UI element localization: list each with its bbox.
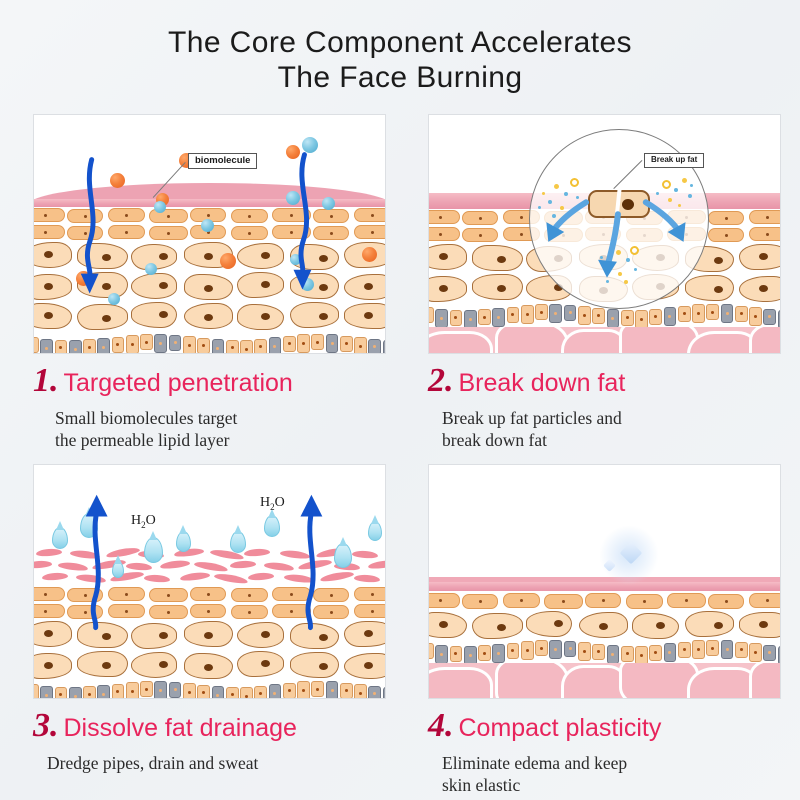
basal-cell bbox=[592, 644, 605, 660]
basal-cell bbox=[197, 685, 210, 699]
skin-flake bbox=[354, 574, 380, 583]
basal-cell bbox=[763, 309, 776, 325]
basal-cell bbox=[649, 645, 662, 661]
step-caption-4: 4. Compact plasticity Eliminate edema an… bbox=[428, 709, 783, 797]
basal-cell bbox=[778, 310, 781, 329]
cell-nucleus bbox=[319, 255, 328, 262]
fat-particle bbox=[564, 192, 568, 196]
corneocyte-cell bbox=[462, 594, 498, 609]
skin-flake bbox=[144, 574, 170, 583]
biomolecule-orange bbox=[220, 253, 236, 269]
cell-nucleus bbox=[159, 632, 168, 639]
fat-particle bbox=[538, 206, 541, 209]
biomolecule-blue bbox=[286, 191, 300, 205]
basal-cell-row bbox=[33, 682, 386, 699]
basal-cell bbox=[692, 304, 705, 323]
spinous-cell bbox=[290, 652, 338, 678]
biomolecule-orange bbox=[76, 271, 91, 286]
fat-cell bbox=[749, 663, 780, 699]
spinous-cell bbox=[184, 274, 233, 300]
cell-nucleus bbox=[159, 282, 168, 289]
spinous-cell bbox=[579, 612, 628, 638]
biomolecule-blue bbox=[302, 137, 318, 153]
skin-flake bbox=[126, 562, 152, 571]
corneocyte-cell bbox=[190, 587, 226, 601]
cell-nucleus bbox=[102, 254, 111, 261]
basal-cell bbox=[154, 681, 167, 699]
fat-cell bbox=[495, 663, 569, 699]
basal-cell bbox=[535, 640, 548, 656]
basal-cell bbox=[607, 645, 620, 664]
water-droplet bbox=[264, 515, 280, 537]
spinous-cell-row bbox=[33, 622, 386, 652]
basal-cell bbox=[435, 309, 448, 328]
skin-flake bbox=[76, 573, 107, 584]
fat-particle bbox=[542, 192, 545, 195]
biomolecule-orange bbox=[362, 247, 377, 262]
fat-particle bbox=[616, 250, 621, 255]
corneocyte-cell bbox=[503, 593, 540, 608]
step-heading-1: 1. Targeted penetration bbox=[33, 364, 388, 398]
cell-nucleus bbox=[261, 631, 270, 638]
fat-particle bbox=[688, 194, 692, 198]
cell-nucleus bbox=[44, 251, 53, 258]
cell-nucleus bbox=[714, 257, 723, 264]
skin-flake bbox=[36, 548, 62, 557]
cell-nucleus bbox=[102, 315, 111, 322]
skin-flake bbox=[160, 559, 191, 570]
fat-cell bbox=[561, 665, 627, 699]
water-droplet bbox=[230, 531, 246, 553]
cell-nucleus bbox=[656, 622, 665, 629]
basal-cell bbox=[521, 641, 534, 660]
basal-cell bbox=[354, 684, 367, 699]
cell-nucleus bbox=[261, 660, 270, 667]
spinous-cell bbox=[33, 242, 72, 268]
basal-cell bbox=[154, 334, 167, 353]
spinous-cell bbox=[131, 652, 177, 678]
basal-cell bbox=[564, 641, 577, 657]
spinous-cell-row bbox=[33, 243, 386, 273]
basal-cell bbox=[578, 306, 591, 325]
basal-cell bbox=[721, 640, 734, 659]
spinous-cell bbox=[526, 611, 572, 637]
basal-cell bbox=[664, 643, 677, 662]
fat-particle bbox=[678, 204, 681, 207]
fat-particle bbox=[674, 188, 678, 192]
cell-nucleus bbox=[204, 664, 213, 671]
skin-flake bbox=[70, 549, 101, 560]
skin-flake bbox=[284, 573, 315, 584]
basal-cell bbox=[706, 304, 719, 320]
cell-nucleus bbox=[102, 633, 111, 640]
spinous-cell bbox=[33, 621, 72, 647]
basal-cell bbox=[428, 643, 434, 659]
fat-particle bbox=[576, 196, 579, 199]
step-heading-4: 4. Compact plasticity bbox=[428, 709, 783, 743]
basal-cell bbox=[297, 681, 310, 699]
cell-nucleus bbox=[204, 285, 213, 292]
cell-nucleus bbox=[44, 662, 53, 669]
cell-nucleus bbox=[44, 312, 53, 319]
basal-cell bbox=[240, 687, 253, 699]
spinous-cell bbox=[33, 274, 72, 300]
basal-cell bbox=[635, 646, 648, 665]
skin-flake bbox=[230, 560, 256, 569]
step-card-1: biomolecule 1. Targeted penetration Smal… bbox=[33, 114, 388, 452]
basal-cell bbox=[69, 687, 82, 699]
basal-cell bbox=[254, 686, 267, 699]
skin-flake bbox=[320, 570, 355, 583]
basal-cell bbox=[97, 338, 110, 354]
step-title-2: Break down fat bbox=[459, 371, 626, 396]
basal-cell bbox=[649, 309, 662, 325]
basal-cell bbox=[450, 310, 463, 326]
corneocyte-cell bbox=[33, 587, 65, 601]
step-caption-3: 3. Dissolve fat drainage Dredge pipes, d… bbox=[33, 709, 388, 774]
basal-cell bbox=[450, 646, 463, 662]
spinous-cell bbox=[344, 303, 386, 329]
basal-cell bbox=[326, 334, 339, 353]
corneocyte-cell bbox=[428, 593, 460, 608]
corneocyte-cell bbox=[585, 593, 621, 608]
basal-cell bbox=[311, 681, 324, 697]
skin-flake bbox=[248, 572, 274, 581]
cell-nucleus bbox=[364, 630, 373, 637]
corneocyte-cell bbox=[231, 588, 268, 602]
water-droplet bbox=[144, 537, 163, 563]
basal-cell bbox=[340, 683, 353, 699]
spinous-cell bbox=[33, 653, 72, 679]
spinous-cell bbox=[472, 274, 522, 300]
corneocyte-cell bbox=[231, 605, 268, 619]
skin-flake bbox=[264, 561, 295, 572]
basal-cell bbox=[126, 335, 139, 354]
step-number-4: 4. bbox=[428, 709, 454, 743]
basal-cell bbox=[269, 684, 282, 699]
fat-particle bbox=[554, 184, 559, 189]
corneocyte-cell bbox=[108, 208, 145, 222]
basal-cell bbox=[778, 646, 781, 665]
step-number-3: 3. bbox=[33, 709, 59, 743]
basal-cell bbox=[763, 645, 776, 661]
title-line-2: The Face Burning bbox=[0, 61, 800, 96]
spinous-cell bbox=[237, 622, 284, 648]
water-droplet bbox=[176, 531, 191, 552]
cell-nucleus bbox=[261, 281, 270, 288]
corneocyte-cell bbox=[272, 208, 311, 222]
basal-cell bbox=[126, 682, 139, 699]
basal-cell bbox=[212, 686, 225, 699]
basal-cell bbox=[112, 337, 125, 353]
basal-cell bbox=[83, 686, 96, 699]
fat-particle bbox=[682, 178, 687, 183]
corneocyte-cell bbox=[462, 228, 498, 242]
corneocyte-row bbox=[428, 593, 781, 610]
skin-flake bbox=[42, 572, 68, 581]
spinous-cell bbox=[237, 304, 284, 330]
basal-cell bbox=[226, 687, 239, 699]
step-body-3: Dredge pipes, drain and sweat bbox=[47, 752, 388, 774]
basal-cell bbox=[721, 304, 734, 323]
corneocyte-cell bbox=[313, 209, 349, 223]
basal-cell bbox=[311, 334, 324, 350]
biomolecule-orange bbox=[110, 173, 125, 188]
spinous-cell bbox=[428, 612, 467, 638]
basal-cell bbox=[340, 336, 353, 352]
cell-nucleus bbox=[319, 663, 328, 670]
cell-nucleus bbox=[364, 283, 373, 290]
cell-nucleus bbox=[714, 622, 723, 629]
spinous-cell bbox=[290, 302, 338, 328]
basal-cell bbox=[283, 683, 296, 699]
cell-nucleus bbox=[319, 313, 328, 320]
fat-particle bbox=[656, 192, 659, 195]
cell-nucleus bbox=[204, 632, 213, 639]
fat-particle bbox=[606, 280, 609, 283]
spinous-cell-row bbox=[33, 652, 386, 682]
corneocyte-cell bbox=[749, 593, 781, 608]
basal-cell bbox=[549, 640, 562, 659]
fat-particle bbox=[634, 268, 637, 271]
step-card-3: H2OH2O 3. Dissolve fat drainage Dredge p… bbox=[33, 464, 388, 774]
spinous-cell bbox=[472, 613, 522, 639]
cell-nucleus bbox=[364, 662, 373, 669]
spinous-cell bbox=[131, 302, 177, 328]
step-title-3: Dissolve fat drainage bbox=[64, 716, 297, 741]
corneocyte-row bbox=[33, 604, 386, 621]
corneocyte-cell bbox=[108, 225, 145, 239]
basal-cell bbox=[578, 642, 591, 661]
corneocyte-cell bbox=[749, 210, 781, 224]
basal-cell bbox=[621, 310, 634, 326]
skin-flake bbox=[244, 548, 270, 557]
basal-cell bbox=[169, 682, 182, 698]
spinous-cell bbox=[632, 613, 679, 639]
basal-cell bbox=[478, 645, 491, 661]
biomolecule-blue bbox=[108, 293, 120, 305]
cell-nucleus bbox=[497, 285, 506, 292]
spinous-cell bbox=[428, 244, 467, 270]
spinous-cell bbox=[184, 621, 233, 647]
cell-nucleus bbox=[44, 283, 53, 290]
corneocyte-cell bbox=[313, 226, 349, 240]
basal-cell bbox=[140, 681, 153, 697]
h2o-label: H2O bbox=[260, 495, 285, 512]
biomolecule-blue bbox=[145, 263, 157, 275]
basal-cell bbox=[183, 336, 196, 354]
basal-cell bbox=[635, 310, 648, 329]
fat-cell bbox=[749, 327, 780, 354]
water-droplet bbox=[334, 543, 352, 568]
spinous-cell bbox=[77, 243, 127, 269]
corneocyte-cell bbox=[354, 604, 386, 618]
basal-cell bbox=[83, 339, 96, 354]
basal-cell bbox=[368, 339, 381, 354]
step-body-4: Eliminate edema and keep skin elastic bbox=[442, 752, 783, 797]
infographic-root: The Core Component Accelerates The Face … bbox=[0, 0, 800, 800]
corneocyte-cell bbox=[708, 211, 744, 225]
cell-nucleus bbox=[261, 252, 270, 259]
fat-particle bbox=[548, 200, 552, 204]
basal-cell bbox=[212, 339, 225, 354]
corneocyte-cell bbox=[708, 228, 744, 242]
subcutaneous-fat-layer bbox=[429, 663, 780, 699]
corneocyte-cell bbox=[149, 605, 188, 619]
cell-nucleus bbox=[159, 661, 168, 668]
cell-nucleus bbox=[159, 253, 168, 260]
corneocyte-cell bbox=[272, 587, 311, 601]
drainage-arrow-right-head bbox=[300, 495, 322, 517]
step-heading-3: 3. Dissolve fat drainage bbox=[33, 709, 388, 743]
basal-cell bbox=[33, 684, 39, 699]
corneocyte-cell bbox=[149, 226, 188, 240]
basal-cell bbox=[435, 645, 448, 664]
corneocyte-cell bbox=[108, 604, 145, 618]
basal-cell bbox=[40, 339, 53, 354]
cell-nucleus bbox=[102, 283, 111, 290]
skin-flake bbox=[298, 558, 333, 571]
water-droplet bbox=[368, 521, 382, 541]
spinous-cell bbox=[184, 303, 233, 329]
corneocyte-cell bbox=[33, 225, 65, 239]
basal-cell bbox=[678, 642, 691, 658]
basal-cell bbox=[749, 307, 762, 326]
spinous-cell bbox=[77, 651, 127, 677]
basal-cell bbox=[33, 337, 39, 353]
basal-cell-row bbox=[428, 641, 781, 663]
basal-cell bbox=[226, 340, 239, 354]
spinous-cell-row bbox=[428, 612, 781, 642]
basal-cell bbox=[735, 642, 748, 658]
broken-cell-nucleus bbox=[622, 199, 634, 210]
basal-cell bbox=[621, 646, 634, 662]
spinous-cell bbox=[131, 273, 177, 299]
water-droplet bbox=[80, 513, 98, 538]
step-caption-2: 2. Break down fat Break up fat particles… bbox=[428, 364, 783, 452]
basal-cell bbox=[283, 336, 296, 352]
cell-nucleus bbox=[599, 623, 608, 630]
spinous-cell bbox=[344, 653, 386, 679]
step-caption-1: 1. Targeted penetration Small biomolecul… bbox=[33, 364, 388, 452]
fat-particle bbox=[618, 272, 622, 276]
corneocyte-cell bbox=[190, 604, 226, 618]
spinous-cell bbox=[184, 653, 233, 679]
skin-flake bbox=[33, 560, 52, 569]
basal-cell bbox=[69, 340, 82, 354]
skin-flake bbox=[352, 550, 378, 559]
biomolecule-callout: biomolecule bbox=[188, 153, 257, 169]
spinous-cell bbox=[131, 623, 177, 649]
basal-cell bbox=[254, 339, 267, 354]
corneocyte-cell bbox=[313, 605, 349, 619]
corneocyte-cell bbox=[272, 225, 311, 239]
corneocyte-cell bbox=[462, 211, 498, 225]
basal-cell bbox=[428, 307, 434, 323]
corneocyte-cell bbox=[231, 209, 268, 223]
corneocyte-row bbox=[33, 587, 386, 604]
spinous-cell bbox=[237, 243, 284, 269]
fat-cell bbox=[495, 327, 569, 354]
fat-particle bbox=[624, 280, 628, 284]
corneocyte-cell bbox=[354, 587, 386, 601]
spinous-cell bbox=[237, 272, 284, 298]
step-card-2: Break up fat 2. Break down fat Break up … bbox=[428, 114, 783, 452]
basal-cell bbox=[197, 338, 210, 354]
biomolecule-blue bbox=[201, 219, 214, 232]
basal-cell bbox=[240, 340, 253, 354]
corneocyte-cell bbox=[67, 588, 103, 602]
compact-plasticity-diagram bbox=[428, 464, 781, 699]
basal-cell bbox=[507, 643, 520, 659]
step-card-4: 4. Compact plasticity Eliminate edema an… bbox=[428, 464, 783, 797]
basal-cell bbox=[749, 643, 762, 662]
spinous-cell bbox=[685, 275, 733, 301]
fat-particle bbox=[570, 178, 579, 187]
corneocyte-cell bbox=[749, 227, 781, 241]
corneocyte-cell bbox=[67, 209, 103, 223]
corneocyte-cell bbox=[272, 604, 311, 618]
cell-nucleus bbox=[497, 624, 506, 631]
corneocyte-cell bbox=[626, 594, 663, 609]
spinous-cell bbox=[77, 304, 127, 330]
skin-flake bbox=[214, 572, 249, 585]
step-body-1: Small biomolecules target the permeable … bbox=[55, 407, 388, 452]
step-body-2: Break up fat particles and break down fa… bbox=[442, 407, 783, 452]
fat-particle bbox=[600, 256, 603, 259]
biomolecule-blue bbox=[154, 201, 166, 213]
biomolecule-blue bbox=[290, 254, 301, 265]
fat-particle bbox=[560, 206, 564, 210]
basal-cell bbox=[269, 337, 282, 354]
spinous-cell bbox=[428, 276, 467, 302]
biomolecule-orange bbox=[286, 145, 300, 159]
skin-flake bbox=[106, 546, 141, 559]
fat-particle bbox=[626, 258, 630, 262]
corneocyte-cell bbox=[354, 225, 386, 239]
basal-cell bbox=[678, 306, 691, 322]
spinous-cell-row bbox=[33, 303, 386, 333]
cell-nucleus bbox=[714, 286, 723, 293]
cell-nucleus bbox=[102, 662, 111, 669]
basal-cell bbox=[112, 684, 125, 699]
basal-cell bbox=[183, 683, 196, 699]
basal-cell bbox=[507, 307, 520, 323]
corneocyte-cell bbox=[544, 594, 583, 609]
cell-nucleus bbox=[364, 312, 373, 319]
break-up-fat-callout: Break up fat bbox=[644, 153, 704, 168]
fat-particle bbox=[662, 180, 671, 189]
fat-particle bbox=[552, 214, 556, 218]
basal-cell bbox=[297, 334, 310, 353]
cell-nucleus bbox=[759, 253, 768, 260]
basal-cell bbox=[492, 644, 505, 663]
corneocyte-cell bbox=[313, 588, 349, 602]
basal-cell bbox=[478, 309, 491, 325]
basal-cell bbox=[692, 640, 705, 659]
step-title-4: Compact plasticity bbox=[459, 716, 662, 741]
basal-cell bbox=[55, 340, 68, 354]
step-title-1: Targeted penetration bbox=[64, 371, 293, 396]
skin-flake bbox=[368, 559, 386, 570]
dissolve-fat-drainage-diagram: H2OH2O bbox=[33, 464, 386, 699]
basal-cell bbox=[368, 686, 381, 699]
basal-cell bbox=[55, 687, 68, 699]
targeted-penetration-diagram: biomolecule bbox=[33, 114, 386, 354]
basal-cell bbox=[607, 309, 620, 328]
cell-nucleus bbox=[204, 253, 213, 260]
spinous-cell bbox=[290, 273, 338, 299]
